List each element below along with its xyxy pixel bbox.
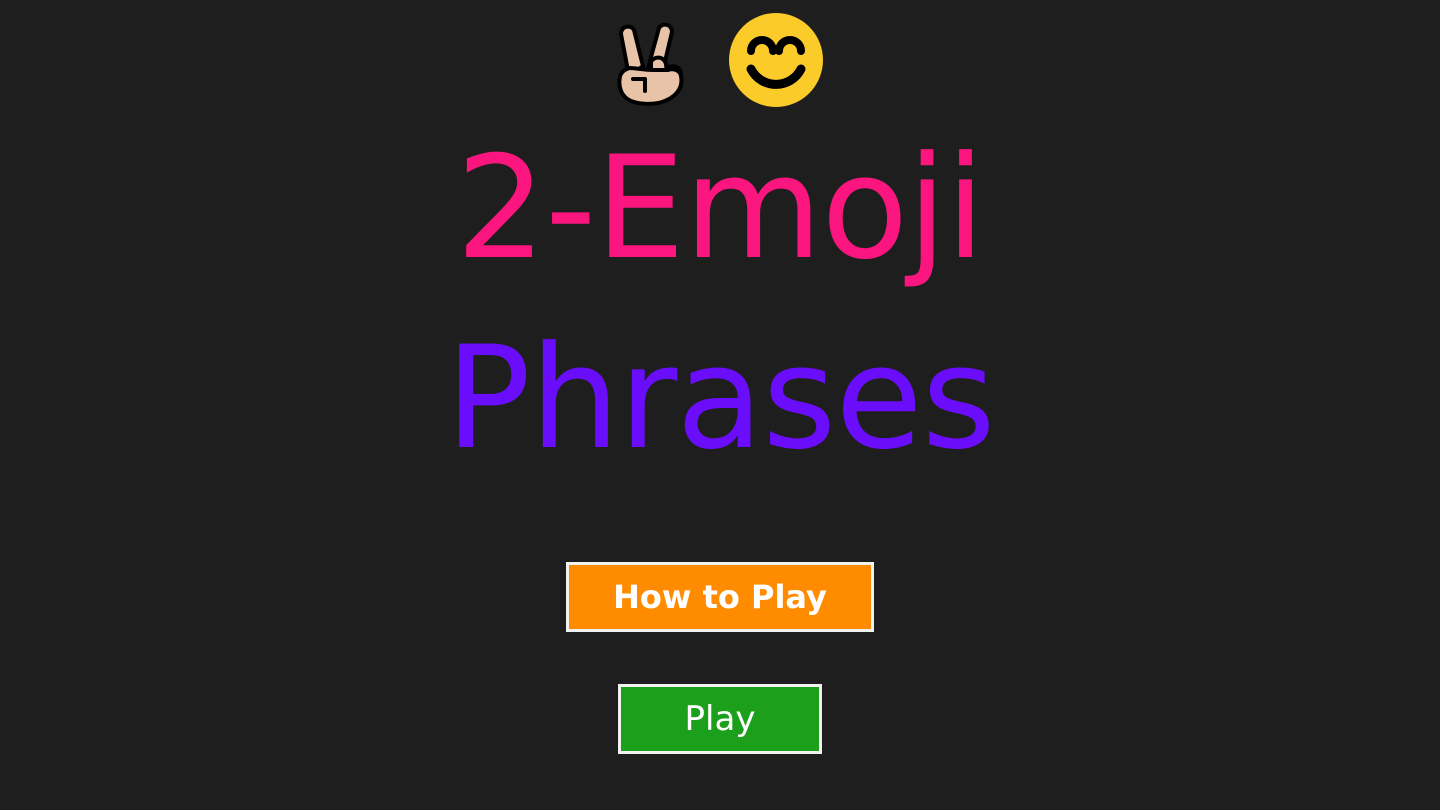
game-start-screen: 2-Emoji Phrases How to Play Play (0, 0, 1440, 810)
smiling-face-icon (727, 11, 825, 109)
page-title: 2-Emoji Phrases (445, 138, 994, 470)
title-line-one: 2-Emoji (445, 138, 994, 280)
title-line-two: Phrases (445, 328, 994, 470)
victory-hand-icon (615, 12, 691, 108)
button-group: How to Play Play (566, 562, 874, 754)
play-button[interactable]: Play (618, 684, 822, 754)
emoji-header-row (615, 4, 825, 116)
how-to-play-button[interactable]: How to Play (566, 562, 874, 632)
